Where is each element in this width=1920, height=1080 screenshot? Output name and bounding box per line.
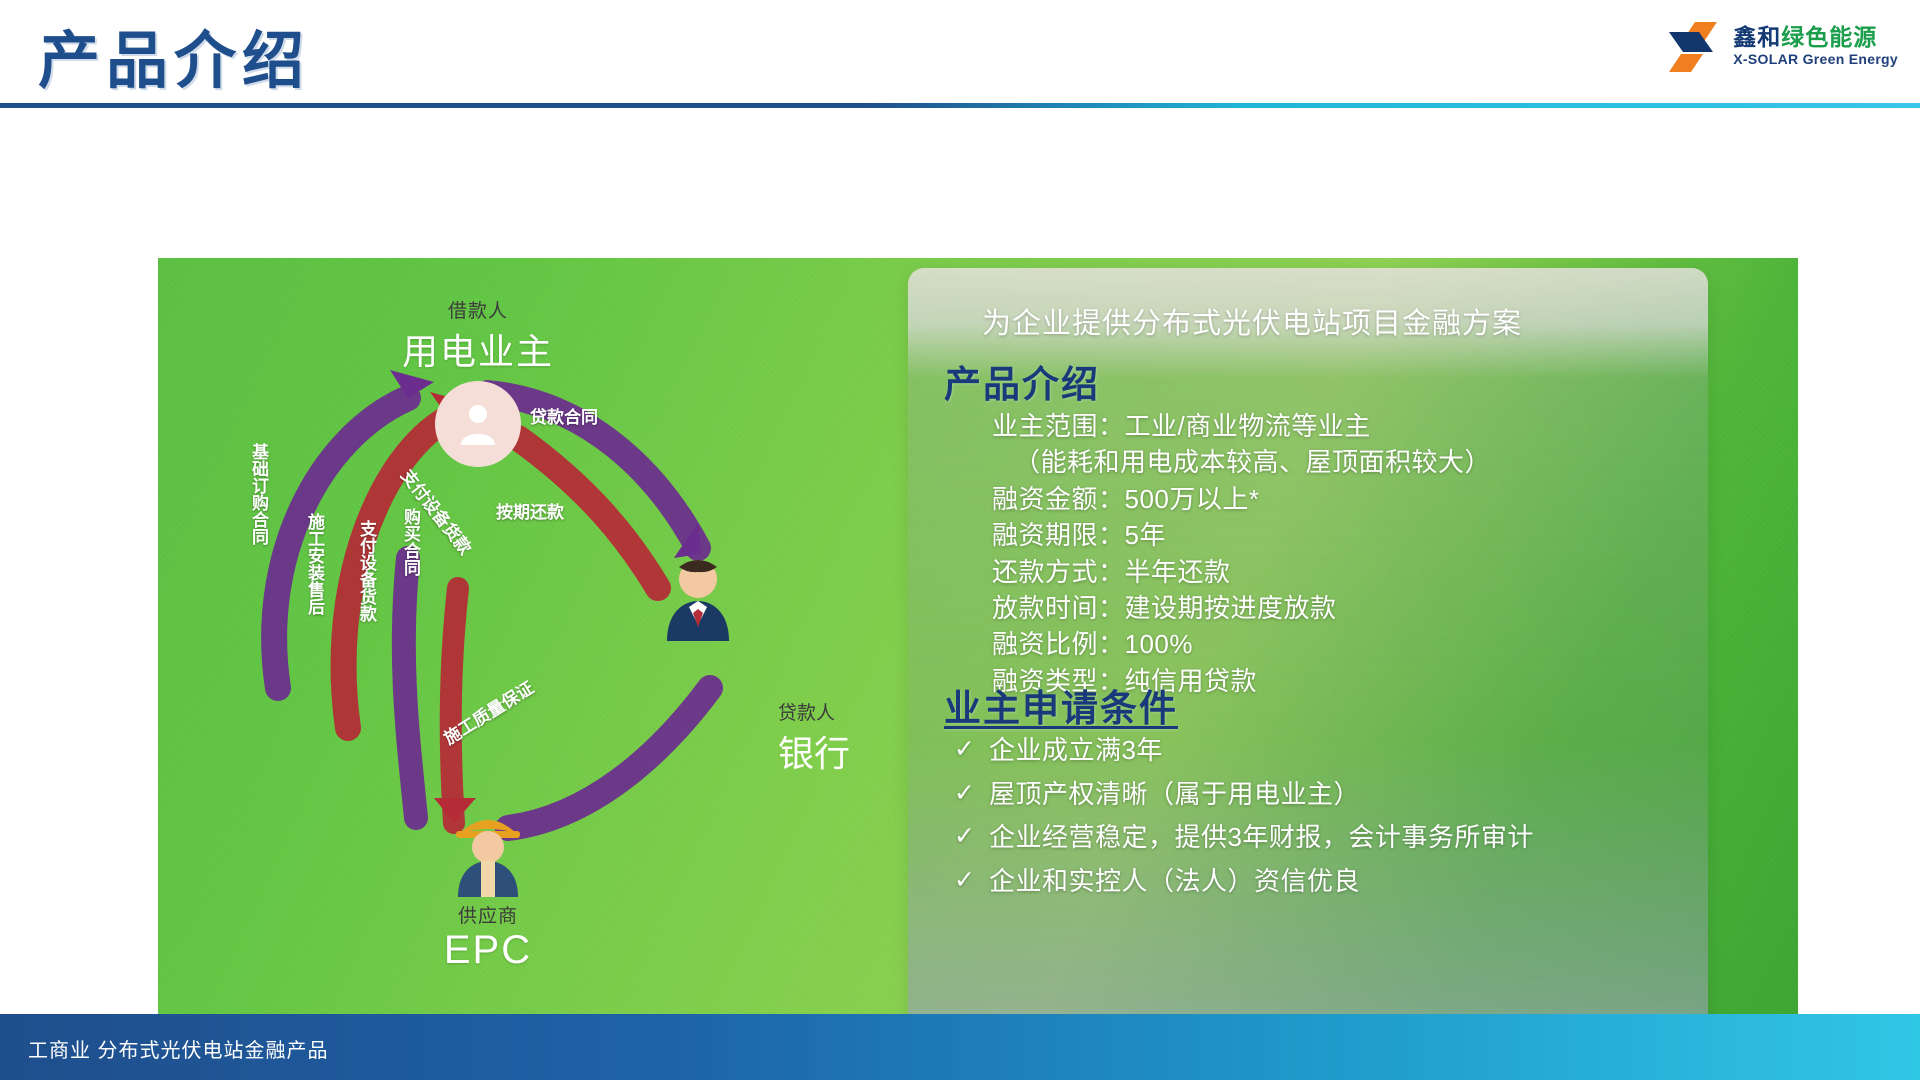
brand-logo: 鑫和绿色能源 X-SOLAR Green Energy xyxy=(1665,18,1898,74)
condition-row: ✓ 屋顶产权清晰（属于用电业主） xyxy=(954,778,1694,811)
section-heading-intro: 产品介绍 xyxy=(944,354,1100,408)
condition-row: ✓ 企业经营稳定，提供3年财报，会计事务所审计 xyxy=(954,821,1694,854)
x-solar-logo-icon xyxy=(1665,18,1721,74)
arrow-label-loan-contract: 贷款合同 xyxy=(530,403,598,428)
condition-row: ✓ 企业和实控人（法人）资信优良 xyxy=(954,865,1694,898)
arrow-label-purchase-contract: 购买合同 xyxy=(398,508,423,576)
page-title: 产品介绍 xyxy=(38,10,310,100)
spec-item: 融资比例：100% xyxy=(992,626,1692,662)
product-info-card: 为企业提供分布式光伏电站项目金融方案 产品介绍 业主范围：工业/商业物流等业主 … xyxy=(908,268,1708,1058)
node-owner: 借款人 用电业主 xyxy=(368,296,588,473)
node-bank xyxy=(638,548,758,646)
node-epc-role: 供应商 xyxy=(388,901,588,928)
condition-row: ✓ 企业成立满3年 xyxy=(954,734,1694,767)
arrow-label-repayment: 按期还款 xyxy=(496,498,564,523)
spec-item: 融资金额：500万以上* xyxy=(992,481,1692,517)
condition-text: 企业和实控人（法人）资信优良 xyxy=(989,865,1360,898)
node-owner-role: 借款人 xyxy=(368,296,588,323)
check-icon: ✓ xyxy=(954,778,975,809)
slide-footer: 工商业 分布式光伏电站金融产品 xyxy=(0,1014,1920,1080)
footer-text: 工商业 分布式光伏电站金融产品 xyxy=(28,1034,329,1063)
slide-body: 借款人 用电业主 贷款人 银行 xyxy=(0,108,1920,1028)
arrow-label-base-order-contract: 基础订购合同 xyxy=(246,443,271,545)
node-epc: 供应商 EPC xyxy=(388,803,588,973)
slide-header: 产品介绍 鑫和绿色能源 X-SOLAR Green Energy xyxy=(0,0,1920,108)
spec-item: （能耗和用电成本较高、屋顶面积较大） xyxy=(992,444,1692,480)
conditions-list: ✓ 企业成立满3年 ✓ 屋顶产权清晰（属于用电业主） ✓ 企业经营稳定，提供3年… xyxy=(954,734,1694,908)
section-heading-conditions: 业主申请条件 xyxy=(944,678,1178,732)
spec-item: 业主范围：工业/商业物流等业主 xyxy=(992,408,1692,444)
arrow-label-install-service: 施工安装售后 xyxy=(302,513,327,615)
spec-item: 还款方式：半年还款 xyxy=(992,554,1692,590)
condition-text: 企业成立满3年 xyxy=(989,734,1163,767)
arrow-label-pay-equipment-2: 支付设备货款 xyxy=(354,520,379,622)
logo-cn-navy: 鑫和 xyxy=(1733,24,1781,50)
node-bank-name: 银行 xyxy=(778,725,850,777)
node-bank-role: 贷款人 xyxy=(778,698,850,725)
spec-item: 放款时间：建设期按进度放款 xyxy=(992,590,1692,626)
condition-text: 企业经营稳定，提供3年财报，会计事务所审计 xyxy=(989,821,1534,854)
check-icon: ✓ xyxy=(954,734,975,765)
node-epc-name: EPC xyxy=(388,928,588,973)
condition-text: 屋顶产权清晰（属于用电业主） xyxy=(989,778,1360,811)
card-banner-title: 为企业提供分布式光伏电站项目金融方案 xyxy=(982,300,1522,342)
logo-en-text: X-SOLAR Green Energy xyxy=(1733,52,1898,67)
check-icon: ✓ xyxy=(954,865,975,896)
owner-avatar-icon xyxy=(435,381,521,467)
spec-item: 融资期限：5年 xyxy=(992,517,1692,553)
logo-cn-green: 绿色能源 xyxy=(1781,24,1877,50)
node-bank-labels: 贷款人 银行 xyxy=(778,698,850,777)
spec-list: 业主范围：工业/商业物流等业主 （能耗和用电成本较高、屋顶面积较大） 融资金额：… xyxy=(992,408,1692,699)
check-icon: ✓ xyxy=(954,821,975,852)
bank-avatar-icon xyxy=(655,554,741,640)
epc-avatar-icon xyxy=(445,809,531,895)
node-owner-name: 用电业主 xyxy=(368,323,588,375)
